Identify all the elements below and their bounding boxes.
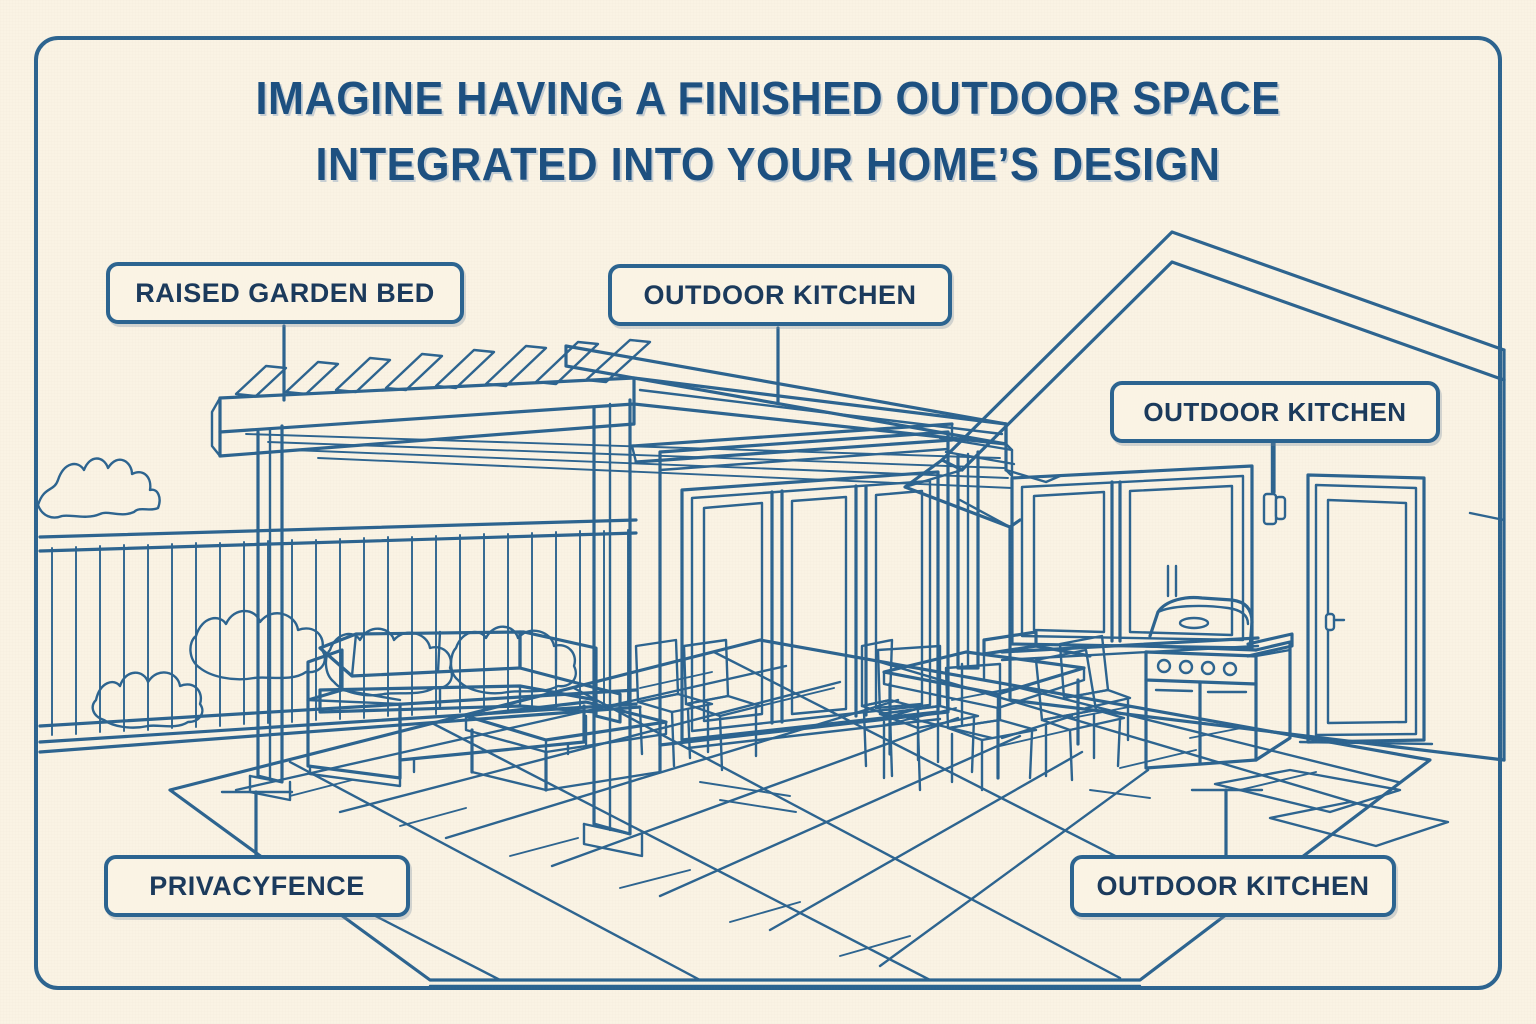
callout-outdoor-kitchen-pergola[interactable]: OUTDOOR KITCHEN — [608, 264, 952, 326]
grill-handle — [1180, 618, 1208, 628]
entry-door — [1300, 475, 1432, 744]
page-title-line-1: IMAGINE HAVING A FINISHED OUTDOOR SPACE — [46, 74, 1490, 123]
callout-privacy-fence[interactable]: PRIVACYFENCE — [104, 855, 410, 917]
sliding-glass-door — [682, 472, 940, 748]
callout-outdoor-kitchen-house[interactable]: OUTDOOR KITCHEN — [1110, 381, 1440, 443]
grill-knobs — [1158, 660, 1236, 675]
pergola-post-left — [250, 426, 290, 800]
pergola-post-right — [958, 452, 978, 668]
paver-joints — [150, 650, 1430, 980]
window — [1002, 466, 1258, 660]
callout-outdoor-kitchen-grill[interactable]: OUTDOOR KITCHEN — [1070, 855, 1396, 917]
page-title-line-2: INTEGRATED INTO YOUR HOME’S DESIGN — [46, 140, 1490, 189]
callout-raised-garden-bed[interactable]: RAISED GARDEN BED — [106, 262, 464, 324]
door-handle — [1326, 614, 1334, 630]
paver-patio — [150, 640, 1448, 986]
infographic-root: .ln { fill:none; stroke:#2c6490; stroke-… — [0, 0, 1536, 1024]
